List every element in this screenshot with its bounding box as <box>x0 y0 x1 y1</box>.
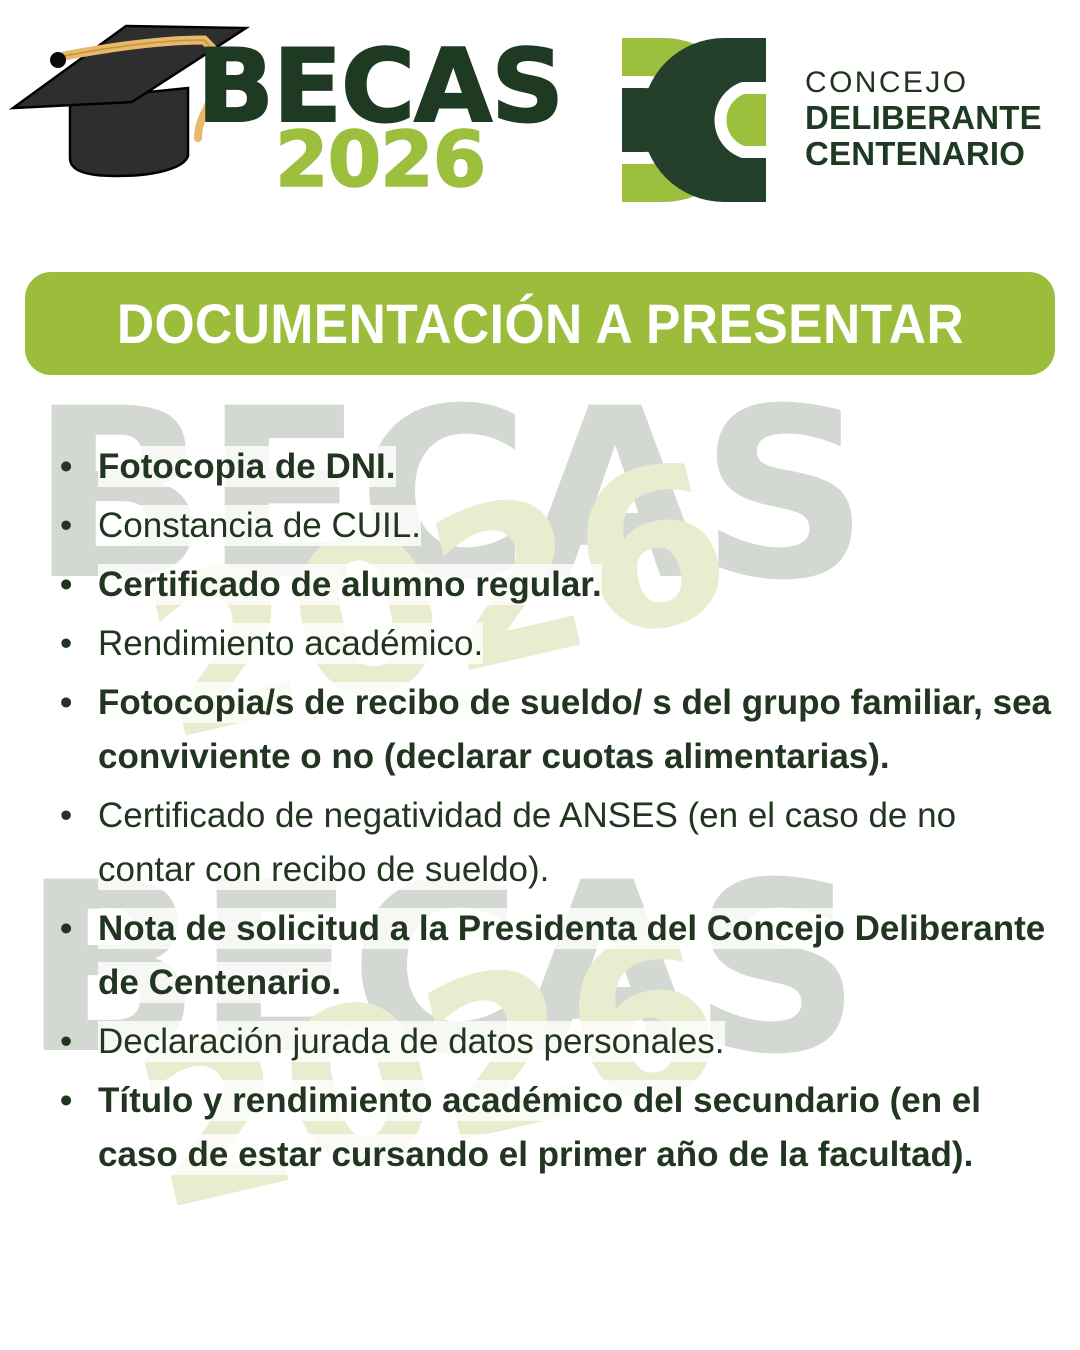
list-item-label: Fotocopia de DNI. <box>98 446 396 487</box>
bullet-icon: • <box>60 1015 72 1069</box>
list-item-label: Constancia de CUIL. <box>98 505 421 546</box>
documents-list: • Fotocopia de DNI. • Constancia de CUIL… <box>46 440 1056 1187</box>
bullet-icon: • <box>60 789 72 843</box>
becas-year: 2026 <box>275 122 485 199</box>
list-item: • Constancia de CUIL. <box>46 499 1056 553</box>
org-line-deliberante: DELIBERANTE <box>805 100 1055 136</box>
list-item-label: Título y rendimiento académico del secun… <box>98 1080 981 1175</box>
dc-monogram-icon <box>614 34 774 206</box>
section-banner: DOCUMENTACIÓN A PRESENTAR <box>25 272 1055 375</box>
list-item: • Fotocopia de DNI. <box>46 440 1056 494</box>
bullet-icon: • <box>60 440 72 494</box>
banner-title: DOCUMENTACIÓN A PRESENTAR <box>116 296 963 352</box>
bullet-icon: • <box>60 499 72 553</box>
bullet-icon: • <box>60 617 72 671</box>
poster-page: BECAS 2026 BECAS 2026 BECAS 2026 <box>0 0 1080 1350</box>
list-item-label: Nota de solicitud a la Presidenta del Co… <box>98 908 1045 1003</box>
list-item-label: Declaración jurada de datos personales. <box>98 1021 725 1062</box>
list-item: • Nota de solicitud a la Presidenta del … <box>46 902 1056 1010</box>
bullet-icon: • <box>60 558 72 612</box>
list-item: • Certificado de negatividad de ANSES (e… <box>46 789 1056 897</box>
list-item: • Fotocopia/s de recibo de sueldo/ s del… <box>46 676 1056 784</box>
org-line-concejo: CONCEJO <box>805 66 1055 100</box>
org-line-centenario: CENTENARIO <box>805 136 1055 172</box>
list-item: • Declaración jurada de datos personales… <box>46 1015 1056 1069</box>
bullet-icon: • <box>60 676 72 730</box>
list-item: • Título y rendimiento académico del sec… <box>46 1074 1056 1182</box>
list-item-label: Fotocopia/s de recibo de sueldo/ s del g… <box>98 682 1051 777</box>
list-item: • Certificado de alumno regular. <box>46 558 1056 612</box>
bullet-icon: • <box>60 1074 72 1128</box>
list-item-label: Certificado de negatividad de ANSES (en … <box>98 795 956 890</box>
organization-name: CONCEJO DELIBERANTE CENTENARIO <box>805 66 1055 172</box>
list-item: • Rendimiento académico. <box>46 617 1056 671</box>
becas-lockup: BECAS 2026 <box>197 36 557 211</box>
list-item-label: Certificado de alumno regular. <box>98 564 602 605</box>
bullet-icon: • <box>60 902 72 956</box>
list-item-label: Rendimiento académico. <box>98 623 483 664</box>
poster-header: BECAS 2026 CONCEJO DELIBERANTE C <box>0 0 1080 240</box>
